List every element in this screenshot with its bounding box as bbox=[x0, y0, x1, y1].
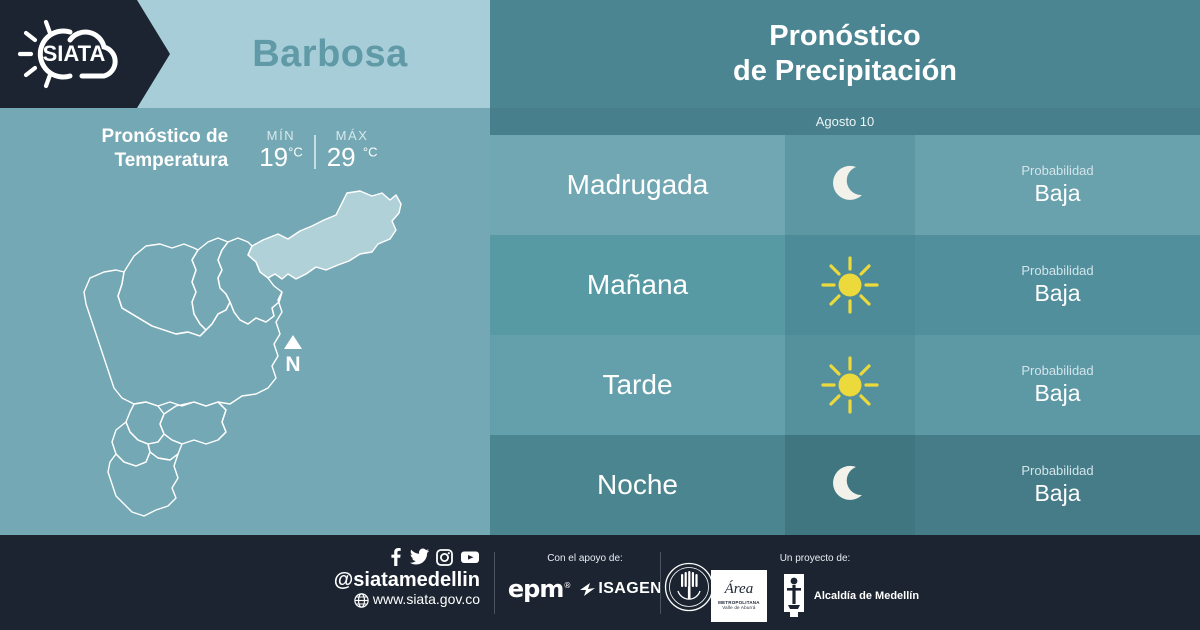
weather-icon-cell bbox=[785, 435, 915, 535]
isagen-text: ISAGEN bbox=[598, 580, 662, 598]
table-row: Tarde Probabilid bbox=[490, 335, 1200, 435]
area-metropolitana-logo: Área METROPOLITANA Valle de Aburrá bbox=[711, 570, 767, 622]
amva-subtitle-2: Valle de Aburrá bbox=[722, 605, 755, 610]
alcaldia-text: Alcaldía de Medellín bbox=[814, 590, 919, 602]
weather-icon-cell bbox=[785, 235, 915, 335]
probability-cell: Probabilidad Baja bbox=[915, 135, 1200, 235]
forecast-date: Agosto 10 bbox=[490, 108, 1200, 135]
website-text: www.siata.gov.co bbox=[373, 591, 480, 609]
period-label: Tarde bbox=[490, 335, 785, 435]
temperature-min: MÍN 19°C bbox=[248, 128, 314, 170]
temperature-values: MÍN 19°C MÁX 29 °C bbox=[248, 128, 388, 170]
youtube-icon[interactable] bbox=[460, 548, 480, 566]
period-label: Madrugada bbox=[490, 135, 785, 235]
temperature-title: Pronóstico de Temperatura bbox=[102, 125, 229, 174]
city-name: Barbosa bbox=[170, 0, 490, 108]
sun-behind-cloud-icon: SIATA bbox=[12, 14, 137, 94]
weather-icon-cell bbox=[785, 335, 915, 435]
min-value: 19°C bbox=[259, 144, 303, 170]
logo-text: SIATA bbox=[43, 41, 106, 66]
support-logos: epm® ISAGEN bbox=[505, 575, 665, 603]
alcaldia-de-medellin-logo: Alcaldía de Medellín bbox=[779, 572, 919, 620]
support-block: Con el apoyo de: epm® ISAGEN bbox=[505, 553, 665, 603]
footer-divider-2 bbox=[660, 552, 661, 614]
aburra-valley-map bbox=[60, 182, 440, 527]
north-arrow: N bbox=[278, 333, 308, 375]
project-logos: Área METROPOLITANA Valle de Aburrá Alcal… bbox=[700, 570, 930, 622]
probability-cell: Probabilidad Baja bbox=[915, 235, 1200, 335]
weather-icon-cell bbox=[785, 135, 915, 235]
max-value: 29 °C bbox=[327, 144, 378, 170]
probability-value: Baja bbox=[1034, 279, 1080, 308]
project-block: Un proyecto de: Área METROPOLITANA Valle… bbox=[700, 553, 930, 622]
north-arrow-icon bbox=[284, 335, 302, 349]
precipitation-title-line1: Pronóstico bbox=[769, 19, 920, 54]
facebook-icon[interactable] bbox=[388, 548, 403, 566]
project-caption: Un proyecto de: bbox=[700, 553, 930, 564]
max-label: MÁX bbox=[336, 128, 369, 143]
table-row: Madrugada Probabilidad Baja bbox=[490, 135, 1200, 235]
temperature-max: MÁX 29 °C bbox=[316, 128, 389, 170]
moon-icon bbox=[822, 457, 878, 513]
probability-value: Baja bbox=[1034, 479, 1080, 508]
forecast-rows: Madrugada Probabilidad Baja Mañana bbox=[490, 135, 1200, 535]
max-unit: °C bbox=[363, 144, 378, 159]
map-region-la-estrella bbox=[112, 422, 150, 466]
support-caption: Con el apoyo de: bbox=[505, 553, 665, 564]
period-label: Noche bbox=[490, 435, 785, 535]
footer-divider-1 bbox=[494, 552, 495, 614]
probability-cell: Probabilidad Baja bbox=[915, 435, 1200, 535]
social-block: @siatamedellin www.siata.gov.co bbox=[300, 548, 480, 609]
precipitation-title-line2: de Precipitación bbox=[733, 54, 957, 89]
precipitation-header: Pronóstico de Precipitación bbox=[490, 0, 1200, 108]
period-label: Mañana bbox=[490, 235, 785, 335]
north-label: N bbox=[285, 353, 300, 375]
probability-label: Probabilidad bbox=[1021, 462, 1093, 480]
map-region-itagui bbox=[126, 402, 164, 444]
social-icons bbox=[300, 548, 480, 566]
epm-logo: epm® bbox=[508, 575, 570, 603]
map-region-boundary-extra bbox=[218, 402, 226, 440]
min-unit: °C bbox=[288, 144, 303, 159]
min-label: MÍN bbox=[267, 128, 296, 143]
globe-icon bbox=[354, 593, 369, 608]
probability-label: Probabilidad bbox=[1021, 262, 1093, 280]
probability-value: Baja bbox=[1034, 379, 1080, 408]
amva-wordmark: Área bbox=[725, 582, 754, 597]
twitter-icon[interactable] bbox=[410, 548, 429, 566]
probability-cell: Probabilidad Baja bbox=[915, 335, 1200, 435]
isagen-mark-icon bbox=[579, 582, 596, 597]
map-region-medellin bbox=[84, 270, 282, 406]
map-region-bello bbox=[118, 244, 206, 336]
instagram-icon[interactable] bbox=[436, 548, 453, 566]
temperature-title-line2: Temperatura bbox=[102, 149, 229, 173]
probability-label: Probabilidad bbox=[1021, 362, 1093, 380]
map-region-barbosa bbox=[248, 191, 401, 279]
map-svg bbox=[60, 182, 440, 527]
moon-icon bbox=[822, 157, 878, 213]
isagen-logo: ISAGEN bbox=[579, 580, 662, 598]
sun-icon bbox=[819, 354, 881, 416]
temperature-summary: Pronóstico de Temperatura MÍN 19°C MÁX 2… bbox=[0, 118, 490, 180]
probability-value: Baja bbox=[1034, 179, 1080, 208]
temperature-title-line1: Pronóstico de bbox=[102, 125, 229, 149]
table-row: Noche Probabilidad Baja bbox=[490, 435, 1200, 535]
sun-icon bbox=[819, 254, 881, 316]
map-region-caldas bbox=[108, 452, 178, 516]
probability-label: Probabilidad bbox=[1021, 162, 1093, 180]
weather-forecast-card: SIATA Barbosa Pronóstico de Temperatura … bbox=[0, 0, 1200, 630]
website-line[interactable]: www.siata.gov.co bbox=[300, 591, 480, 609]
table-row: Mañana Probabili bbox=[490, 235, 1200, 335]
siata-logo-block: SIATA bbox=[0, 0, 170, 108]
alcaldia-crest-icon bbox=[779, 572, 809, 620]
social-handle[interactable]: @siatamedellin bbox=[300, 569, 480, 591]
